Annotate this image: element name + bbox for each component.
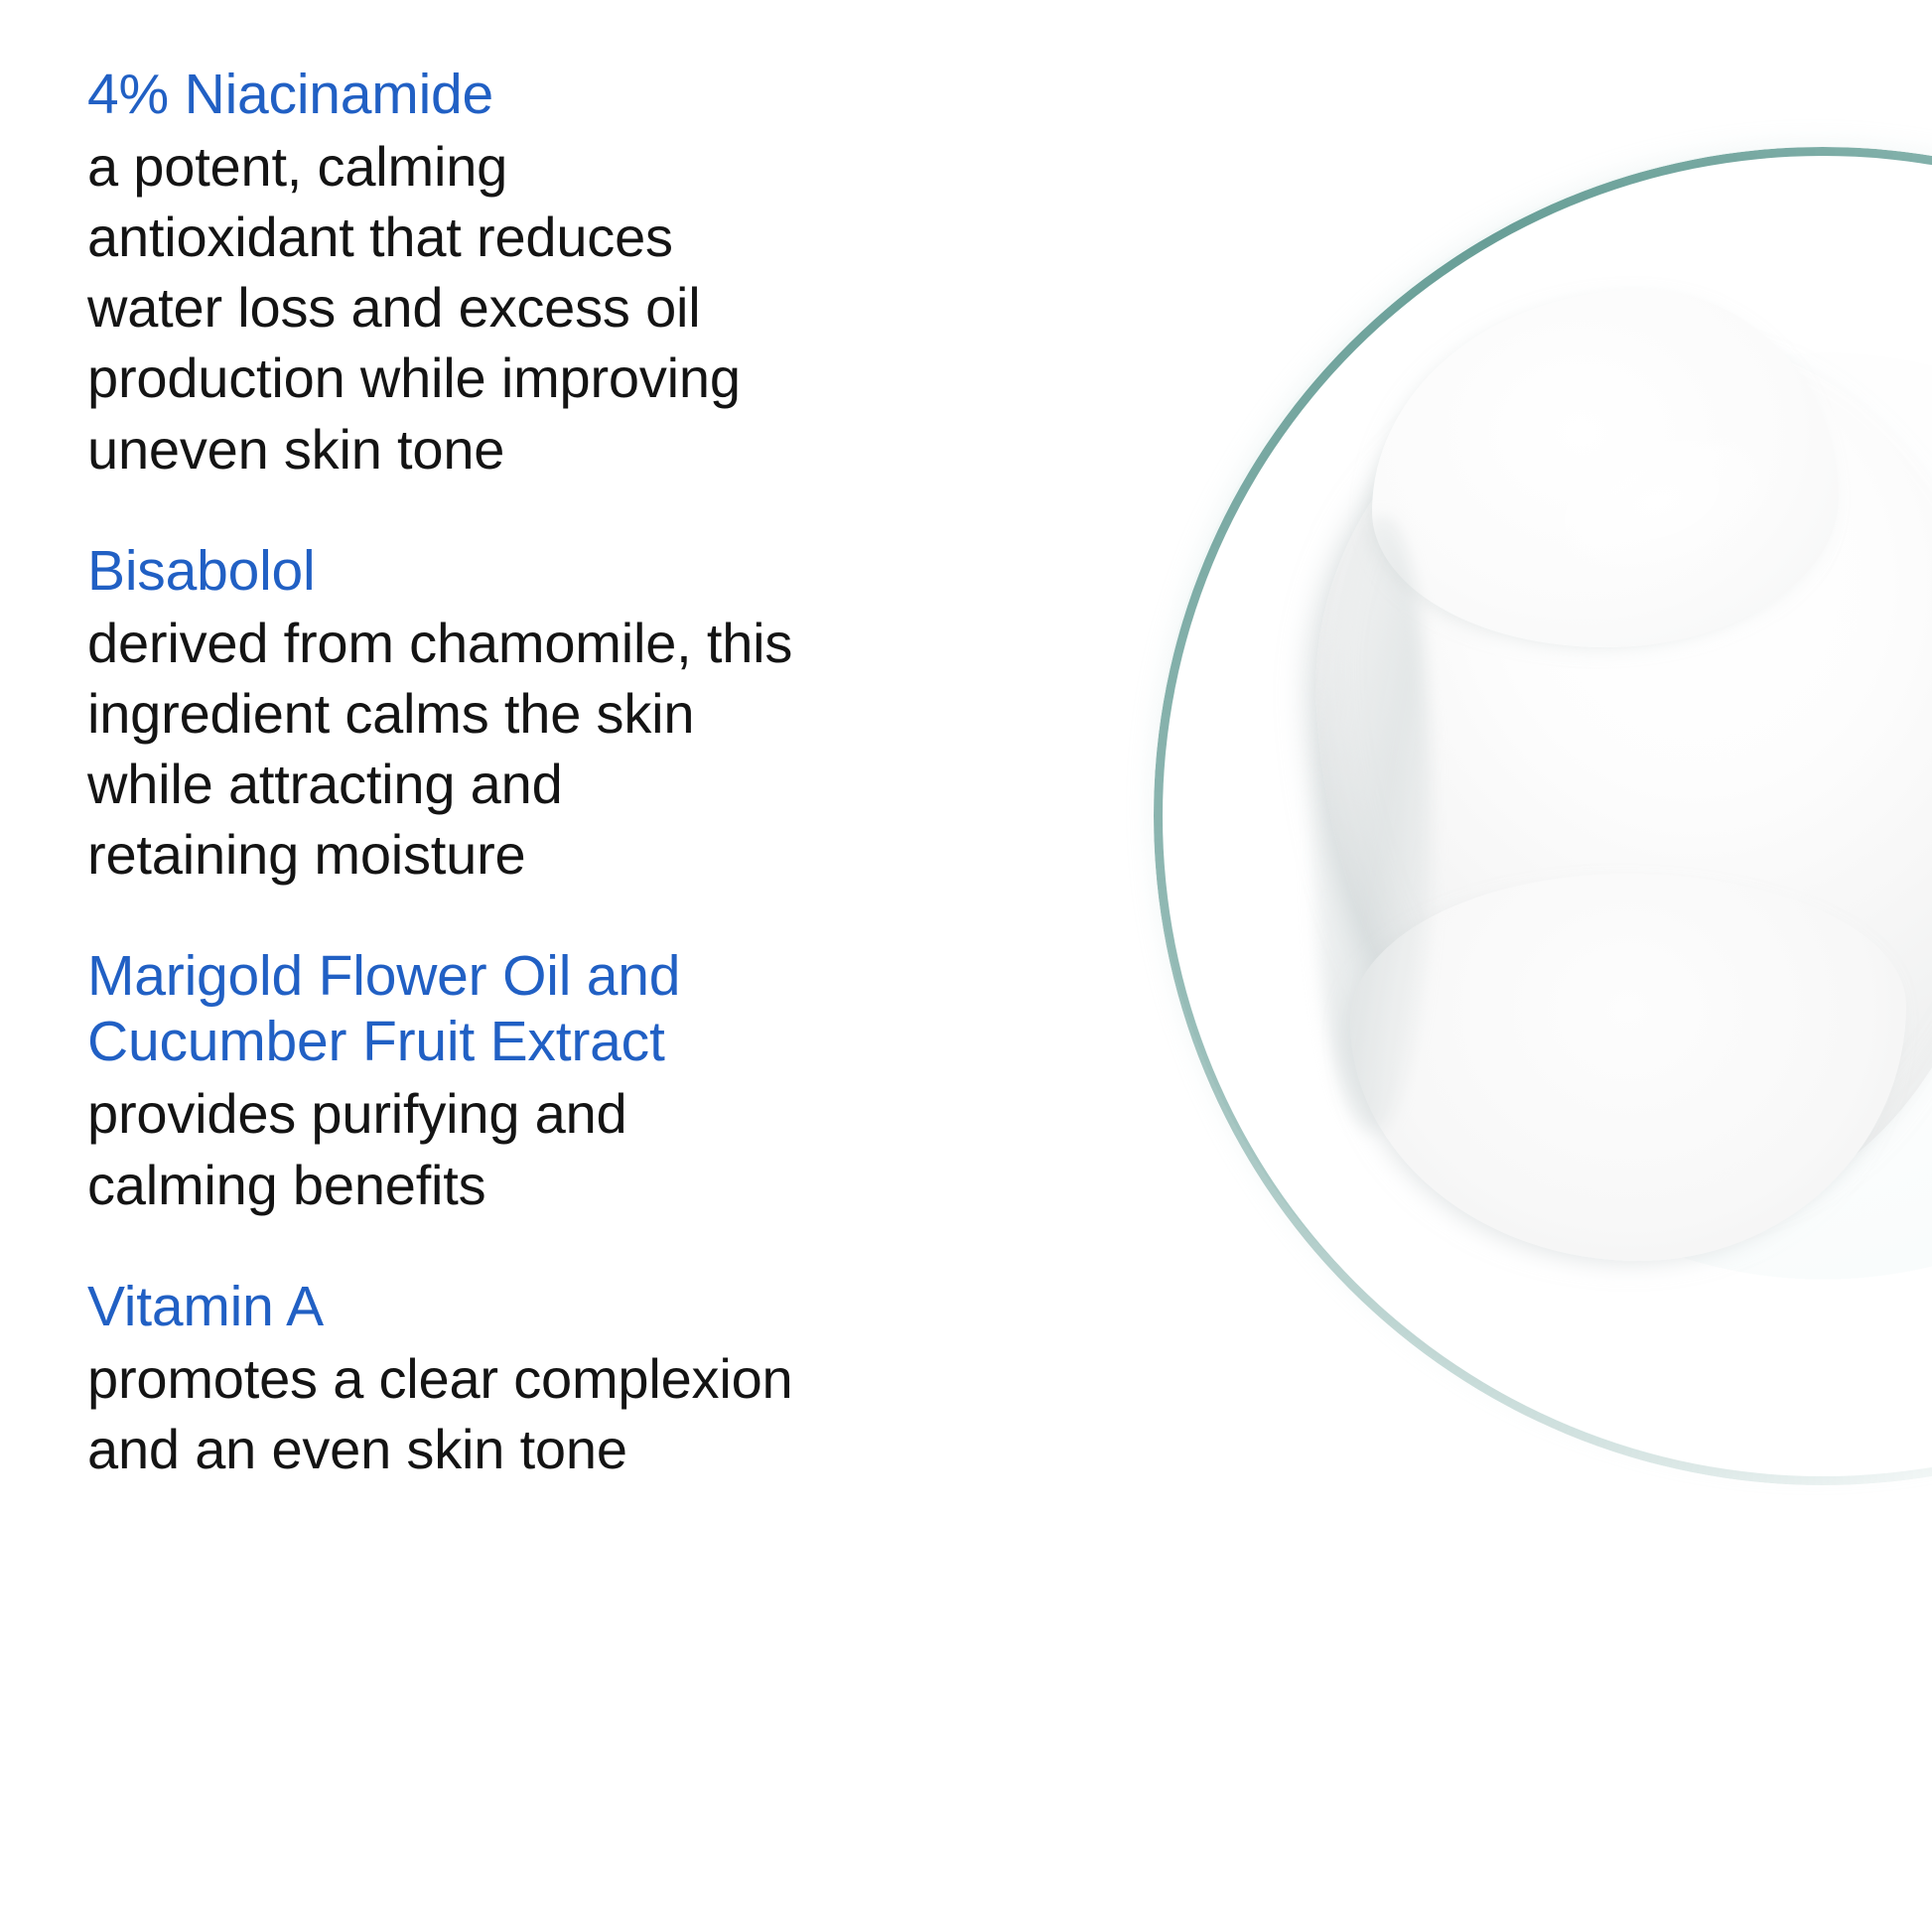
ingredient-item-bisabolol: Bisabolol derived from chamomile, this i… (87, 538, 941, 891)
ingredient-name: Vitamin A (87, 1274, 941, 1339)
ingredient-item-vitamin-a: Vitamin A promotes a clear complexion an… (87, 1274, 941, 1484)
ingredient-description: derived from chamomile, this ingredient … (87, 608, 941, 890)
glass-petri-dish (1154, 147, 1932, 1467)
ingredient-name: 4% Niacinamide (87, 62, 941, 127)
ingredient-item-marigold-cucumber: Marigold Flower Oil and Cucumber Fruit E… (87, 943, 941, 1219)
product-photo (923, 0, 1932, 1932)
ingredient-list: 4% Niacinamide a potent, calming antioxi… (87, 62, 941, 1484)
ingredient-benefits-panel: 4% Niacinamide a potent, calming antioxi… (0, 0, 1932, 1932)
ingredient-name: Marigold Flower Oil and Cucumber Fruit E… (87, 943, 941, 1074)
ingredient-description: a potent, calming antioxidant that reduc… (87, 131, 941, 484)
ingredient-item-niacinamide: 4% Niacinamide a potent, calming antioxi… (87, 62, 941, 484)
ingredient-description: promotes a clear complexion and an even … (87, 1343, 941, 1484)
ingredient-description: provides purifying and calming benefits (87, 1078, 941, 1219)
ingredient-name: Bisabolol (87, 538, 941, 604)
